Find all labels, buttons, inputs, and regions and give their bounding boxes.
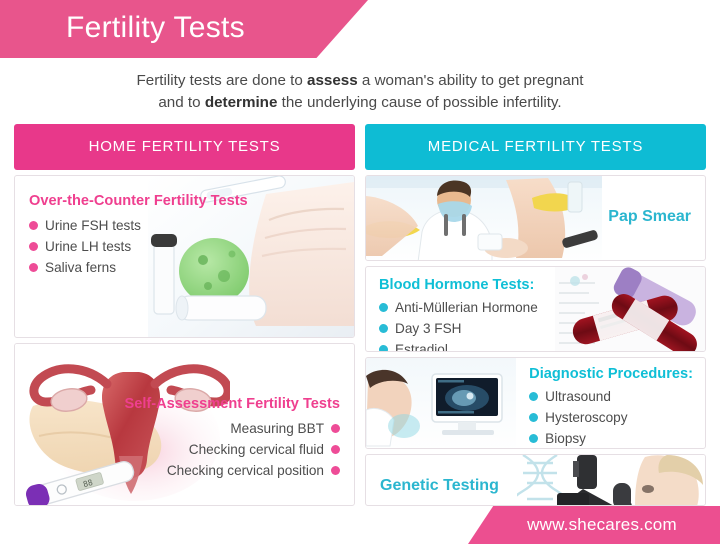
list-item: Urine LH tests: [29, 236, 248, 257]
list-blood-hormone-tests: Anti-Müllerian Hormone Day 3 FSH Estradi…: [379, 297, 538, 352]
heading-pap-smear: Pap Smear: [608, 208, 691, 226]
microscope-dna-photo: [517, 455, 705, 505]
diagnostic-procedures-text-block: Diagnostic Procedures: Ultrasound Hyster…: [529, 366, 693, 449]
column-medical-fertility-tests: MEDICAL FERTILITY TESTS: [365, 124, 706, 506]
list-item: Day 3 FSH: [379, 318, 538, 339]
card-diagnostic-procedures: Diagnostic Procedures: Ultrasound Hyster…: [365, 357, 706, 449]
card-over-the-counter-tests: Over-the-Counter Fertility Tests Urine F…: [14, 175, 355, 338]
header-banner: Fertility Tests: [0, 0, 368, 58]
content-columns: HOME FERTILITY TESTS: [14, 124, 706, 506]
heading-blood-hormone-tests: Blood Hormone Tests:: [379, 277, 538, 294]
gynecologist-exam-photo: [366, 176, 602, 260]
column-home-fertility-tests: HOME FERTILITY TESTS: [14, 124, 355, 506]
bullet-dot-icon: [529, 392, 538, 401]
bullet-dot-icon: [29, 242, 38, 251]
list-item: Hysteroscopy: [529, 407, 693, 428]
list-item: Saliva ferns: [29, 257, 248, 278]
column-header-home: HOME FERTILITY TESTS: [14, 124, 355, 170]
bullet-dot-icon: [529, 413, 538, 422]
bullet-dot-icon: [331, 466, 340, 475]
list-item: Anti-Müllerian Hormone: [379, 297, 538, 318]
self-assessment-text-block: Self-Assessment Fertility Tests Measurin…: [125, 396, 340, 481]
footer-bar: www.shecares.com: [468, 506, 720, 544]
bullet-dot-icon: [29, 221, 38, 230]
card-self-assessment-tests: 88 Self-Assessment Fertility Tests Measu…: [14, 343, 355, 506]
list-item: Ultrasound: [529, 386, 693, 407]
heading-genetic-testing: Genetic Testing: [380, 477, 499, 495]
bullet-dot-icon: [379, 324, 388, 333]
card-genetic-testing: Genetic Testing: [365, 454, 706, 506]
website-url[interactable]: www.shecares.com: [511, 515, 677, 535]
list-diagnostic-procedures: Ultrasound Hysteroscopy Biopsy: [529, 386, 693, 449]
list-item: Biopsy: [529, 428, 693, 449]
list-item: Measuring BBT: [125, 418, 340, 439]
card-blood-hormone-tests: Blood Hormone Tests: Anti-Müllerian Horm…: [365, 266, 706, 352]
list-item: Estradiol: [379, 339, 538, 352]
blood-sample-tubes-photo: [555, 267, 705, 351]
page-title: Fertility Tests: [0, 13, 245, 43]
list-item: Checking cervical fluid: [125, 439, 340, 460]
list-item: Checking cervical position: [125, 460, 340, 481]
bullet-dot-icon: [379, 345, 388, 352]
bullet-dot-icon: [331, 424, 340, 433]
heading-over-the-counter: Over-the-Counter Fertility Tests: [29, 193, 248, 210]
subtitle-line-1: Fertility tests are done to assess a wom…: [137, 72, 584, 89]
bullet-dot-icon: [529, 434, 538, 443]
blood-hormone-text-block: Blood Hormone Tests: Anti-Müllerian Horm…: [379, 277, 538, 352]
column-header-medical: MEDICAL FERTILITY TESTS: [365, 124, 706, 170]
ultrasound-scan-photo: [366, 358, 516, 448]
list-self-assessment: Measuring BBT Checking cervical fluid Ch…: [125, 418, 340, 481]
card-pap-smear: Pap Smear: [365, 175, 706, 261]
bullet-dot-icon: [331, 445, 340, 454]
list-over-the-counter: Urine FSH tests Urine LH tests Saliva fe…: [29, 215, 248, 278]
bullet-dot-icon: [379, 303, 388, 312]
heading-self-assessment: Self-Assessment Fertility Tests: [125, 396, 340, 413]
heading-diagnostic-procedures: Diagnostic Procedures:: [529, 366, 693, 383]
bullet-dot-icon: [29, 263, 38, 272]
subtitle-line-2: and to determine the underlying cause of…: [158, 94, 561, 111]
over-the-counter-text-block: Over-the-Counter Fertility Tests Urine F…: [29, 193, 248, 278]
list-item: Urine FSH tests: [29, 215, 248, 236]
page-subtitle: Fertility tests are done to assess a wom…: [0, 70, 720, 114]
